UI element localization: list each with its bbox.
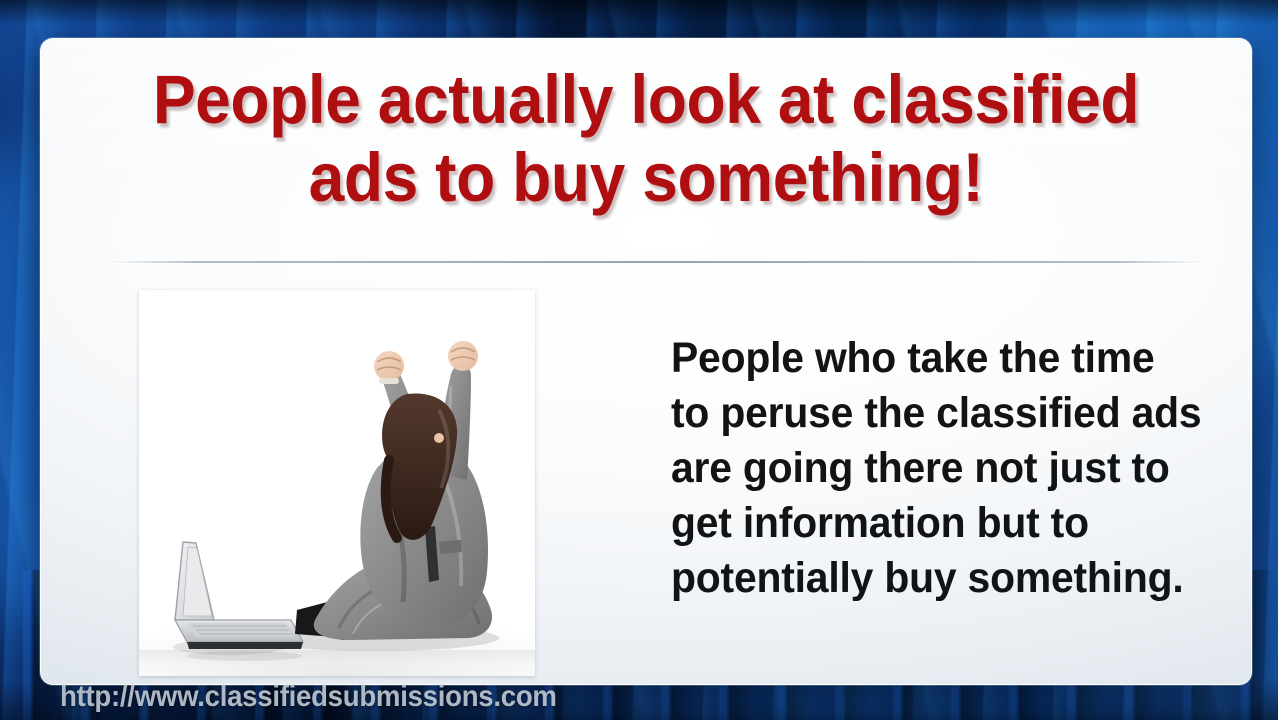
title-divider [111, 261, 1203, 263]
footer-website-url[interactable]: http://www.classifiedsubmissions.com [60, 680, 557, 714]
body-paragraph: People who take the time to peruse the c… [671, 331, 1203, 606]
slide-card: People actually look at classified ads t… [40, 38, 1252, 685]
slide-canvas: People actually look at classified ads t… [0, 0, 1278, 720]
hero-photo-image [139, 290, 535, 676]
raised-fist-right [448, 341, 478, 371]
celebrating-woman-with-laptop-illustration [139, 290, 535, 676]
page-title: People actually look at classified ads t… [128, 61, 1164, 217]
hero-photo [139, 290, 535, 676]
background-top-shade [0, 0, 1278, 24]
